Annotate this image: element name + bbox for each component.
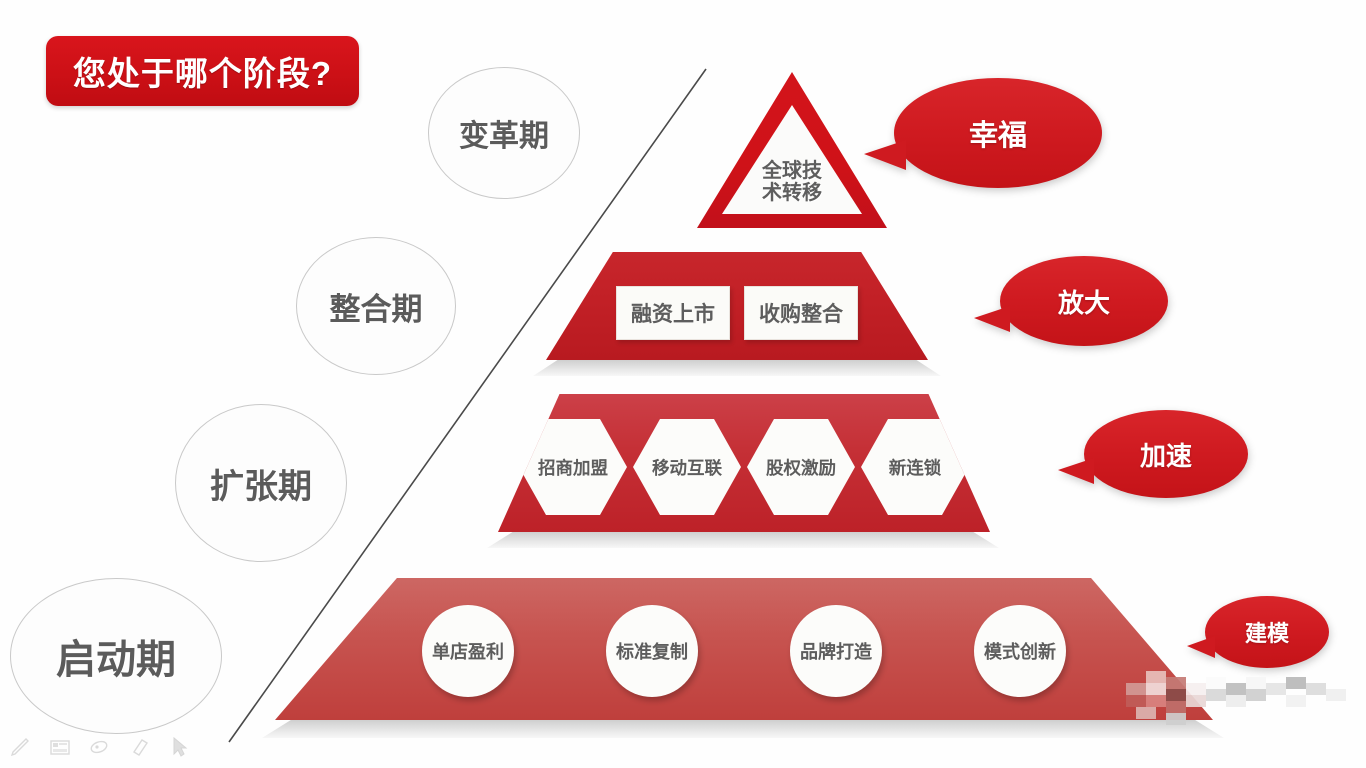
tier2-node-1[interactable]: 收购整合 bbox=[744, 286, 858, 340]
tier4-node-3[interactable]: 模式创新 bbox=[974, 605, 1066, 697]
annotation-toolbar[interactable] bbox=[8, 732, 192, 762]
apex-label-line2: 术转移 bbox=[762, 182, 822, 204]
pyramid-tier-startup[interactable]: 单店盈利 标准复制 品牌打造 模式创新 bbox=[275, 578, 1213, 720]
bubble-tail-icon bbox=[974, 306, 1010, 332]
tier3-node-2[interactable]: 股权激励 bbox=[747, 419, 855, 515]
tier2-node-0[interactable]: 融资上市 bbox=[616, 286, 730, 340]
tier4-shadow bbox=[262, 720, 1224, 738]
callout-bubble-happiness[interactable]: 幸福 bbox=[894, 78, 1102, 188]
mosaic-censored-watermark bbox=[1126, 653, 1366, 725]
tier3-node-0[interactable]: 招商加盟 bbox=[519, 419, 627, 515]
laser-pointer-icon[interactable] bbox=[88, 735, 112, 759]
tier4-node-0[interactable]: 单店盈利 bbox=[422, 605, 514, 697]
bubble-tail-icon bbox=[1058, 458, 1094, 484]
bubble-label-2: 加速 bbox=[1140, 436, 1192, 473]
apex-label-line1: 全球技 bbox=[762, 160, 822, 182]
pyramid-tier-expansion[interactable]: 招商加盟 移动互联 股权激励 新连锁 bbox=[498, 394, 990, 532]
bubble-label-1: 放大 bbox=[1058, 283, 1110, 320]
tier2-shadow bbox=[533, 360, 941, 376]
tier3-shadow bbox=[487, 532, 999, 548]
palette-icon[interactable] bbox=[48, 735, 72, 759]
pyramid-tier-integration[interactable]: 融资上市 收购整合 bbox=[546, 252, 928, 360]
tier4-node-1[interactable]: 标准复制 bbox=[606, 605, 698, 697]
callout-bubble-amplify[interactable]: 放大 bbox=[1000, 256, 1168, 346]
bubble-label-3: 建模 bbox=[1245, 616, 1289, 648]
cursor-arrow-icon[interactable] bbox=[168, 735, 192, 759]
bubble-label-0: 幸福 bbox=[969, 112, 1027, 154]
tier3-node-1[interactable]: 移动互联 bbox=[633, 419, 741, 515]
eraser-icon[interactable] bbox=[128, 735, 152, 759]
callout-bubble-accelerate[interactable]: 加速 bbox=[1084, 410, 1248, 498]
tier4-node-2[interactable]: 品牌打造 bbox=[790, 605, 882, 697]
slide-canvas: 您处于哪个阶段? 启动期 扩张期 整合期 变革期 全球技 术转移 融资上市 bbox=[0, 0, 1366, 768]
pyramid-apex[interactable]: 全球技 术转移 bbox=[697, 72, 887, 228]
pen-icon[interactable] bbox=[8, 735, 32, 759]
bubble-tail-icon bbox=[864, 140, 906, 170]
apex-label: 全球技 术转移 bbox=[748, 160, 836, 214]
tier3-node-3[interactable]: 新连锁 bbox=[861, 419, 969, 515]
